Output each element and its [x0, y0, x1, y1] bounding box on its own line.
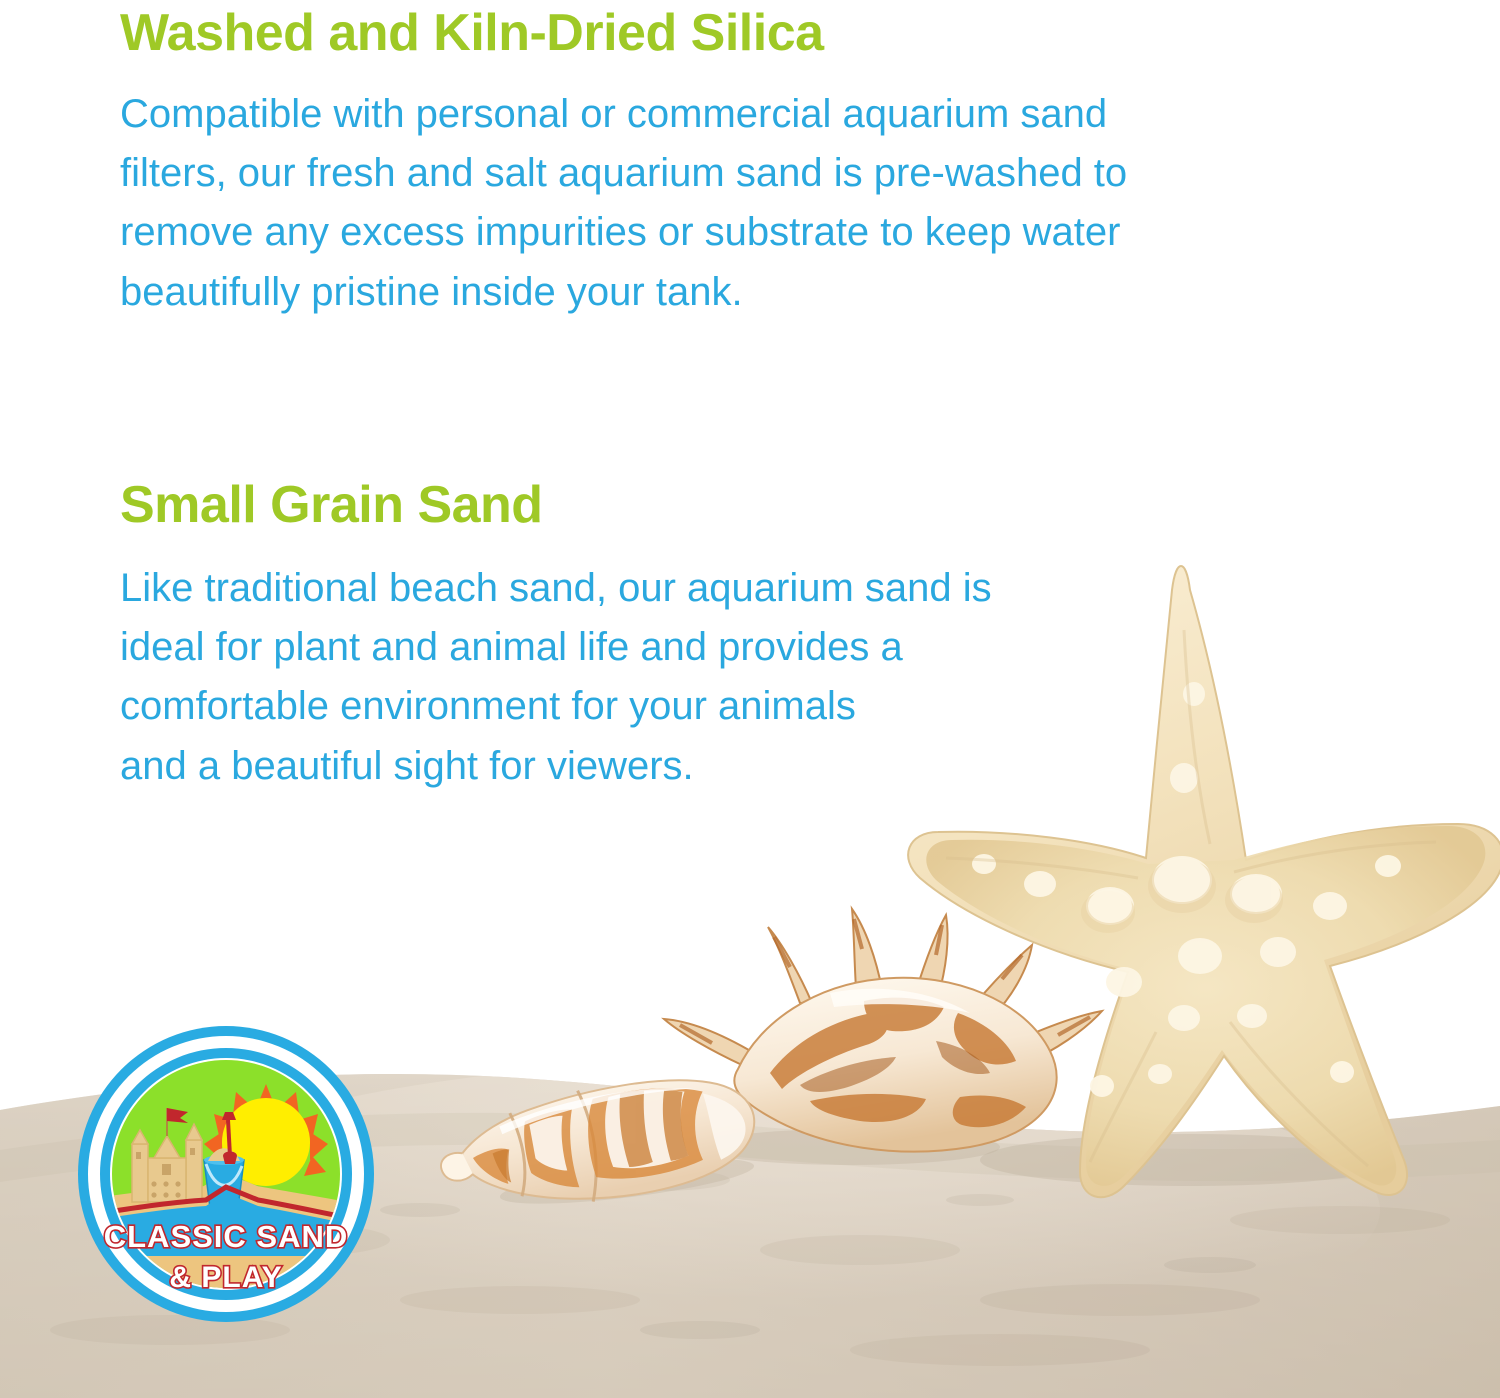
section-1-heading: Washed and Kiln-Dried Silica [120, 6, 1380, 61]
section-1-paragraph: Compatible with personal or commercial a… [120, 85, 1380, 322]
section-1-line-3: remove any excess impurities or substrat… [120, 203, 1380, 262]
section-2-line-1: Like traditional beach sand, our aquariu… [120, 559, 1220, 618]
brand-logo-svg: CLASSIC SAND & PLAY [76, 1024, 376, 1324]
section-1-line-1: Compatible with personal or commercial a… [120, 85, 1380, 144]
section-washed-kiln-dried-silica: Washed and Kiln-Dried Silica Compatible … [120, 6, 1380, 322]
logo-text-line-2: & PLAY [169, 1261, 282, 1294]
product-feature-image: Washed and Kiln-Dried Silica Compatible … [0, 0, 1500, 1398]
logo-text-line-1: CLASSIC SAND [104, 1219, 349, 1254]
brand-logo: CLASSIC SAND & PLAY [76, 1024, 376, 1324]
section-2-line-2: ideal for plant and animal life and prov… [120, 618, 1220, 677]
section-small-grain-sand: Small Grain Sand Like traditional beach … [120, 478, 1220, 796]
section-1-line-4: beautifully pristine inside your tank. [120, 263, 1380, 322]
section-2-paragraph: Like traditional beach sand, our aquariu… [120, 559, 1220, 796]
section-2-heading: Small Grain Sand [120, 478, 1220, 533]
section-2-line-3: comfortable environment for your animals [120, 677, 1220, 736]
section-1-line-2: filters, our fresh and salt aquarium san… [120, 144, 1380, 203]
section-2-line-4: and a beautiful sight for viewers. [120, 737, 1220, 796]
